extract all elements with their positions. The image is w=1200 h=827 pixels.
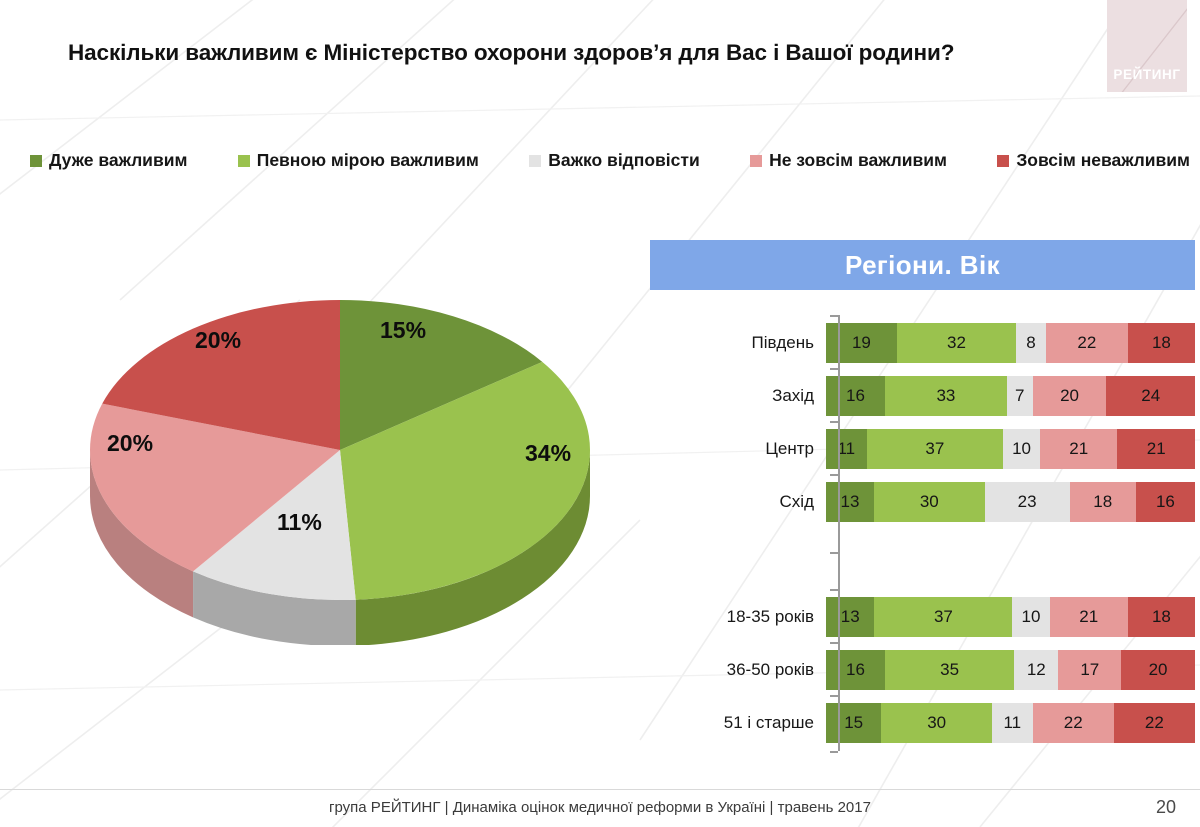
bar-track: 1337102118 (826, 597, 1195, 637)
bar-segment[interactable]: 16 (1136, 482, 1195, 522)
axis-tick (830, 552, 838, 554)
bar-segment[interactable]: 10 (1012, 597, 1049, 637)
bar-segment[interactable]: 17 (1058, 650, 1121, 690)
bar-segment[interactable]: 7 (1007, 376, 1033, 416)
axis-tick (830, 642, 838, 644)
legend-item-hard-to-say[interactable]: Важко відповісти (529, 150, 700, 171)
chart-legend: Дуже важливим Певною мірою важливим Важк… (30, 150, 1190, 171)
stacked-bar-chart: Південь193282218Захід163372024Центр11371… (650, 305, 1195, 765)
bar-track: 193282218 (826, 323, 1195, 363)
pie-chart: 15%34%11%20%20% (45, 275, 635, 645)
bar-category-label: 18-35 років (650, 607, 826, 627)
pie-slice-value-label: 15% (380, 317, 426, 344)
legend-swatch-icon (997, 155, 1009, 167)
legend-item-not-quite-important[interactable]: Не зовсім важливим (750, 150, 947, 171)
bar-segment[interactable]: 37 (867, 429, 1004, 469)
bar-segment[interactable]: 18 (1128, 323, 1195, 363)
bar-segment[interactable]: 23 (985, 482, 1070, 522)
legend-item-label: Не зовсім важливим (769, 150, 947, 171)
bar-row: 36-50 років1635121720 (650, 650, 1195, 690)
bar-segment[interactable]: 12 (1014, 650, 1058, 690)
axis-tick (830, 421, 838, 423)
pie-slice-value-label: 20% (195, 327, 241, 354)
bar-segment[interactable]: 13 (826, 597, 874, 637)
axis-tick (830, 751, 838, 753)
category-axis-line (838, 315, 840, 751)
legend-item-label: Важко відповісти (548, 150, 700, 171)
pie-slice-value-label: 11% (277, 509, 322, 536)
bar-segment[interactable]: 32 (897, 323, 1016, 363)
legend-swatch-icon (529, 155, 541, 167)
bar-segment[interactable]: 18 (1128, 597, 1195, 637)
bar-segment[interactable]: 20 (1121, 650, 1195, 690)
bar-row: Схід1330231816 (650, 482, 1195, 522)
panel-banner: Регіони. Вік (650, 240, 1195, 290)
legend-swatch-icon (750, 155, 762, 167)
bar-segment[interactable]: 30 (874, 482, 985, 522)
pie-slice-value-label: 20% (107, 430, 153, 457)
bar-track: 1137102121 (826, 429, 1195, 469)
bar-segment[interactable]: 11 (826, 429, 867, 469)
bar-segment[interactable]: 22 (1046, 323, 1128, 363)
bar-segment[interactable]: 21 (1117, 429, 1194, 469)
bar-segment[interactable]: 19 (826, 323, 897, 363)
bar-category-label: 36-50 років (650, 660, 826, 680)
bar-category-label: Захід (650, 386, 826, 406)
bar-segment[interactable]: 13 (826, 482, 874, 522)
bar-segment[interactable]: 10 (1003, 429, 1040, 469)
axis-tick (830, 695, 838, 697)
axis-tick (830, 474, 838, 476)
legend-swatch-icon (30, 155, 42, 167)
bar-segment[interactable]: 18 (1070, 482, 1136, 522)
page-title: Наскільки важливим є Міністерство охорон… (68, 40, 1078, 66)
bar-segment[interactable]: 24 (1106, 376, 1195, 416)
legend-item-not-important-at-all[interactable]: Зовсім неважливим (997, 150, 1190, 171)
axis-tick (830, 315, 838, 317)
bar-track: 163372024 (826, 376, 1195, 416)
bar-segment[interactable]: 22 (1114, 703, 1195, 743)
pie-slice-value-label: 34% (525, 440, 571, 467)
legend-item-label: Дуже важливим (49, 150, 187, 171)
legend-item-label: Зовсім неважливим (1016, 150, 1190, 171)
rating-logo: РЕЙТИНГ (1107, 0, 1187, 92)
panel-title: Регіони. Вік (650, 240, 1195, 290)
legend-swatch-icon (238, 155, 250, 167)
bar-segment[interactable]: 33 (885, 376, 1007, 416)
logo-text: РЕЙТИНГ (1107, 67, 1187, 82)
bar-category-label: Центр (650, 439, 826, 459)
bar-row: 51 і старше1530112222 (650, 703, 1195, 743)
axis-tick (830, 589, 838, 591)
bar-row: Захід163372024 (650, 376, 1195, 416)
bar-segment[interactable]: 21 (1050, 597, 1128, 637)
bar-category-label: Південь (650, 333, 826, 353)
legend-item-very-important[interactable]: Дуже важливим (30, 150, 187, 171)
bar-track: 1635121720 (826, 650, 1195, 690)
bar-category-label: 51 і старше (650, 713, 826, 733)
footer-divider (0, 789, 1200, 790)
bar-segment[interactable]: 11 (992, 703, 1033, 743)
slide-canvas: РЕЙТИНГ Наскільки важливим є Міністерств… (0, 0, 1200, 827)
bar-segment[interactable]: 30 (881, 703, 992, 743)
bar-segment[interactable]: 16 (826, 650, 885, 690)
bar-segment[interactable]: 22 (1033, 703, 1114, 743)
bar-row: Центр1137102121 (650, 429, 1195, 469)
page-number: 20 (1156, 797, 1176, 818)
legend-item-label: Певною мірою важливим (257, 150, 479, 171)
bar-category-label: Схід (650, 492, 826, 512)
bar-track: 1530112222 (826, 703, 1195, 743)
bar-row: 18-35 років1337102118 (650, 597, 1195, 637)
bar-segment[interactable]: 20 (1033, 376, 1107, 416)
axis-tick (830, 368, 838, 370)
bar-row: Південь193282218 (650, 323, 1195, 363)
bar-segment[interactable]: 21 (1040, 429, 1117, 469)
bar-segment[interactable]: 16 (826, 376, 885, 416)
footer-caption: група РЕЙТИНГ | Динаміка оцінок медичної… (0, 799, 1200, 816)
bar-segment[interactable]: 8 (1016, 323, 1046, 363)
bar-segment[interactable]: 15 (826, 703, 881, 743)
bar-track: 1330231816 (826, 482, 1195, 522)
bar-segment[interactable]: 37 (874, 597, 1012, 637)
legend-item-somewhat-important[interactable]: Певною мірою важливим (238, 150, 479, 171)
bar-segment[interactable]: 35 (885, 650, 1014, 690)
